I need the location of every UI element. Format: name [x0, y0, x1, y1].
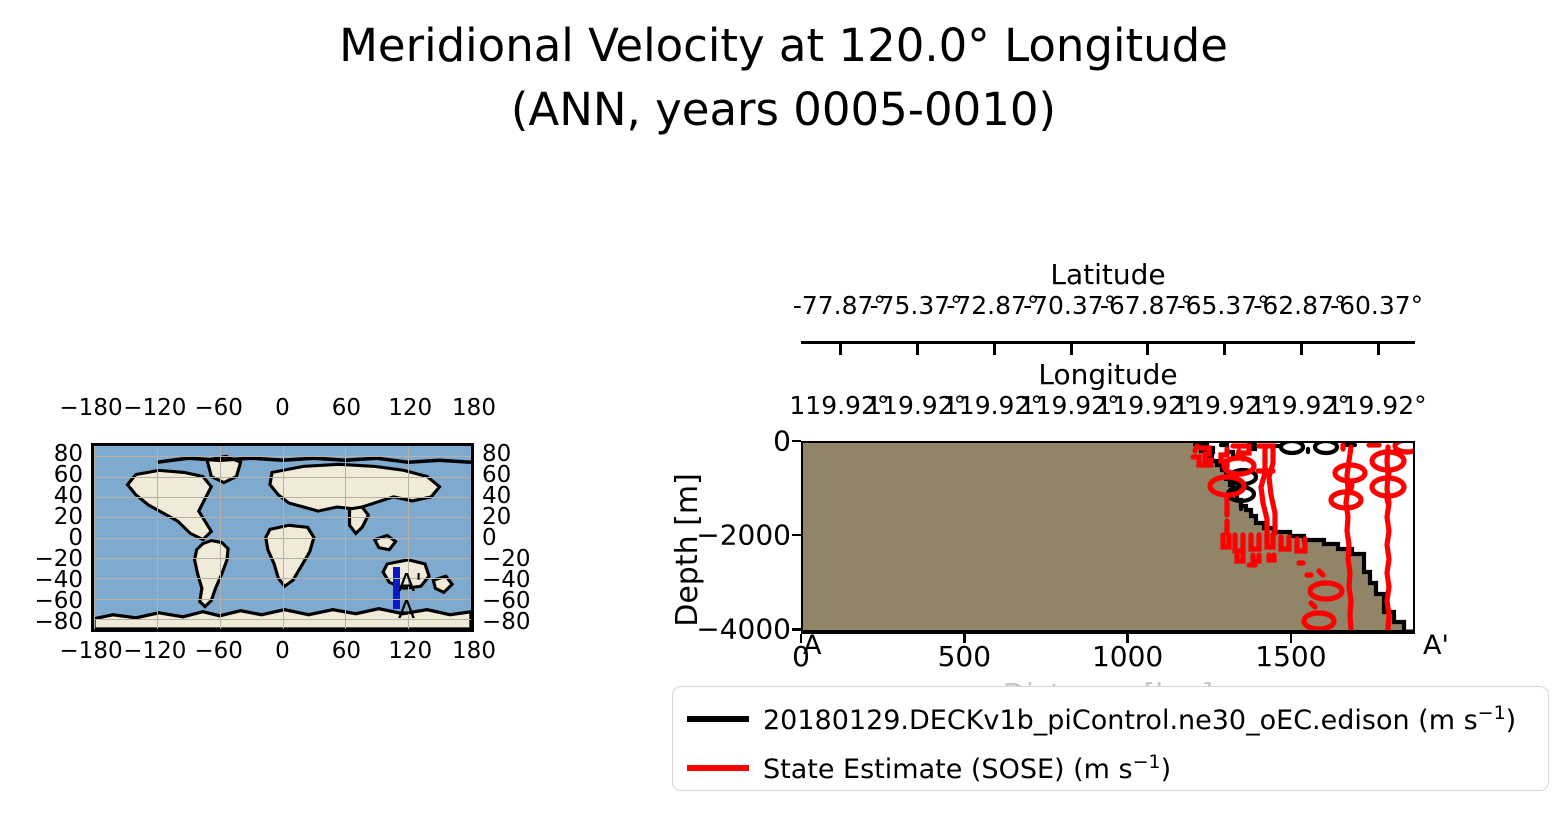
map-x-ticklabel-top: −60	[194, 395, 243, 421]
latitude-axis-spine	[801, 341, 1415, 355]
map-x-ticklabel-bottom: 120	[388, 638, 432, 664]
legend-color-swatch	[687, 716, 749, 722]
cross-section-end-marker: A'	[1423, 630, 1449, 661]
legend-color-swatch	[687, 765, 749, 771]
map-x-ticklabel-top: −120	[123, 395, 186, 421]
longitude-ticklabel: 119.92°	[1327, 391, 1427, 420]
transect-end-label: A'	[398, 568, 422, 597]
legend: 20180129.DECKv1b_piControl.ne30_oEC.edis…	[672, 686, 1549, 791]
map-x-ticklabel-bottom: −120	[123, 638, 186, 664]
map-x-ticklabel-top: 60	[332, 395, 361, 421]
map-gridline-horizontal	[94, 538, 471, 539]
legend-label: 20180129.DECKv1b_piControl.ne30_oEC.edis…	[763, 702, 1516, 736]
distance-tickmark	[1290, 634, 1293, 643]
latitude-tickmark	[1223, 341, 1226, 355]
map-x-ticklabel-top: 0	[275, 395, 290, 421]
depth-tickmark	[792, 440, 801, 443]
chart-title-line1: Meridional Velocity at 120.0° Longitude	[0, 14, 1567, 78]
distance-tickmark	[800, 634, 803, 643]
chart-title-line2: (ANN, years 0005-0010)	[0, 78, 1567, 142]
latitude-ticklabels: -77.87°-75.37°-72.87°-70.37°-67.87°-65.3…	[801, 291, 1415, 323]
depth-ticklabel: −2000	[696, 519, 791, 552]
latitude-tickmark	[1377, 341, 1380, 355]
map-y-ticklabel-right: −80	[482, 609, 531, 635]
map-y-ticklabel-left: −80	[34, 609, 83, 635]
map-x-ticklabel-bottom: 60	[332, 638, 361, 664]
distance-axis-ticks: 050010001500AA'	[801, 634, 1415, 680]
map-x-ticklabel-bottom: −180	[59, 638, 122, 664]
latitude-spine-line	[801, 341, 1415, 344]
latitude-tickmark	[1146, 341, 1149, 355]
map-gridline-horizontal	[94, 517, 471, 518]
distance-ticklabel: 500	[938, 640, 991, 673]
legend-entry[interactable]: State Estimate (SOSE) (m s−1)	[673, 746, 1548, 790]
map-top-x-ticklabels: −180−120−60060120180	[91, 395, 474, 423]
map-gridline-horizontal	[94, 477, 471, 478]
legend-label-exponent: −1	[1478, 702, 1506, 724]
latitude-tickmark	[993, 341, 996, 355]
distance-ticklabel: 1000	[1092, 640, 1163, 673]
transect-start-label: A	[398, 595, 415, 624]
latitude-tickmark	[839, 341, 842, 355]
map-frame	[91, 443, 474, 632]
distance-tickmark	[963, 634, 966, 643]
distance-tickmark	[1126, 634, 1129, 643]
legend-label: State Estimate (SOSE) (m s−1)	[763, 751, 1171, 785]
map-x-ticklabel-top: −180	[59, 395, 122, 421]
map-bottom-x-ticklabels: −180−120−60060120180	[91, 638, 474, 666]
world-map-locator: A' A 808060604040202000−20−20−40−40−60−6…	[91, 443, 474, 632]
map-x-ticklabel-bottom: −60	[194, 638, 243, 664]
latitude-axis-title: Latitude	[801, 258, 1415, 291]
map-gridline-horizontal	[94, 497, 471, 498]
depth-tickmark	[792, 534, 801, 537]
map-gridline-horizontal	[94, 558, 471, 559]
depth-tickmark	[792, 628, 801, 631]
latitude-tickmark	[916, 341, 919, 355]
legend-label-exponent: −1	[1133, 751, 1161, 773]
depth-ticklabel: 0	[773, 425, 791, 458]
cross-section-start-marker: A	[803, 630, 821, 661]
latitude-ticklabel: -60.37°	[1330, 291, 1423, 320]
map-x-ticklabel-top: 120	[388, 395, 432, 421]
depth-ticklabel: −4000	[696, 613, 791, 646]
map-x-ticklabel-bottom: 0	[275, 638, 290, 664]
map-gridline-vertical	[471, 446, 472, 629]
cross-section-plot	[801, 441, 1415, 634]
chart-title: Meridional Velocity at 120.0° Longitude …	[0, 14, 1567, 142]
map-x-ticklabel-bottom: 180	[452, 638, 496, 664]
distance-ticklabel: 1500	[1255, 640, 1326, 673]
longitude-ticklabels: 119.92°119.92°119.92°119.92°119.92°119.9…	[801, 391, 1415, 423]
latitude-tickmark	[1070, 341, 1073, 355]
map-x-ticklabel-top: 180	[452, 395, 496, 421]
cross-section-svg	[803, 443, 1413, 632]
map-gridline-horizontal	[94, 456, 471, 457]
latitude-tickmark	[1300, 341, 1303, 355]
longitude-axis-title: Longitude	[801, 358, 1415, 391]
legend-entry[interactable]: 20180129.DECKv1b_piControl.ne30_oEC.edis…	[673, 697, 1548, 741]
